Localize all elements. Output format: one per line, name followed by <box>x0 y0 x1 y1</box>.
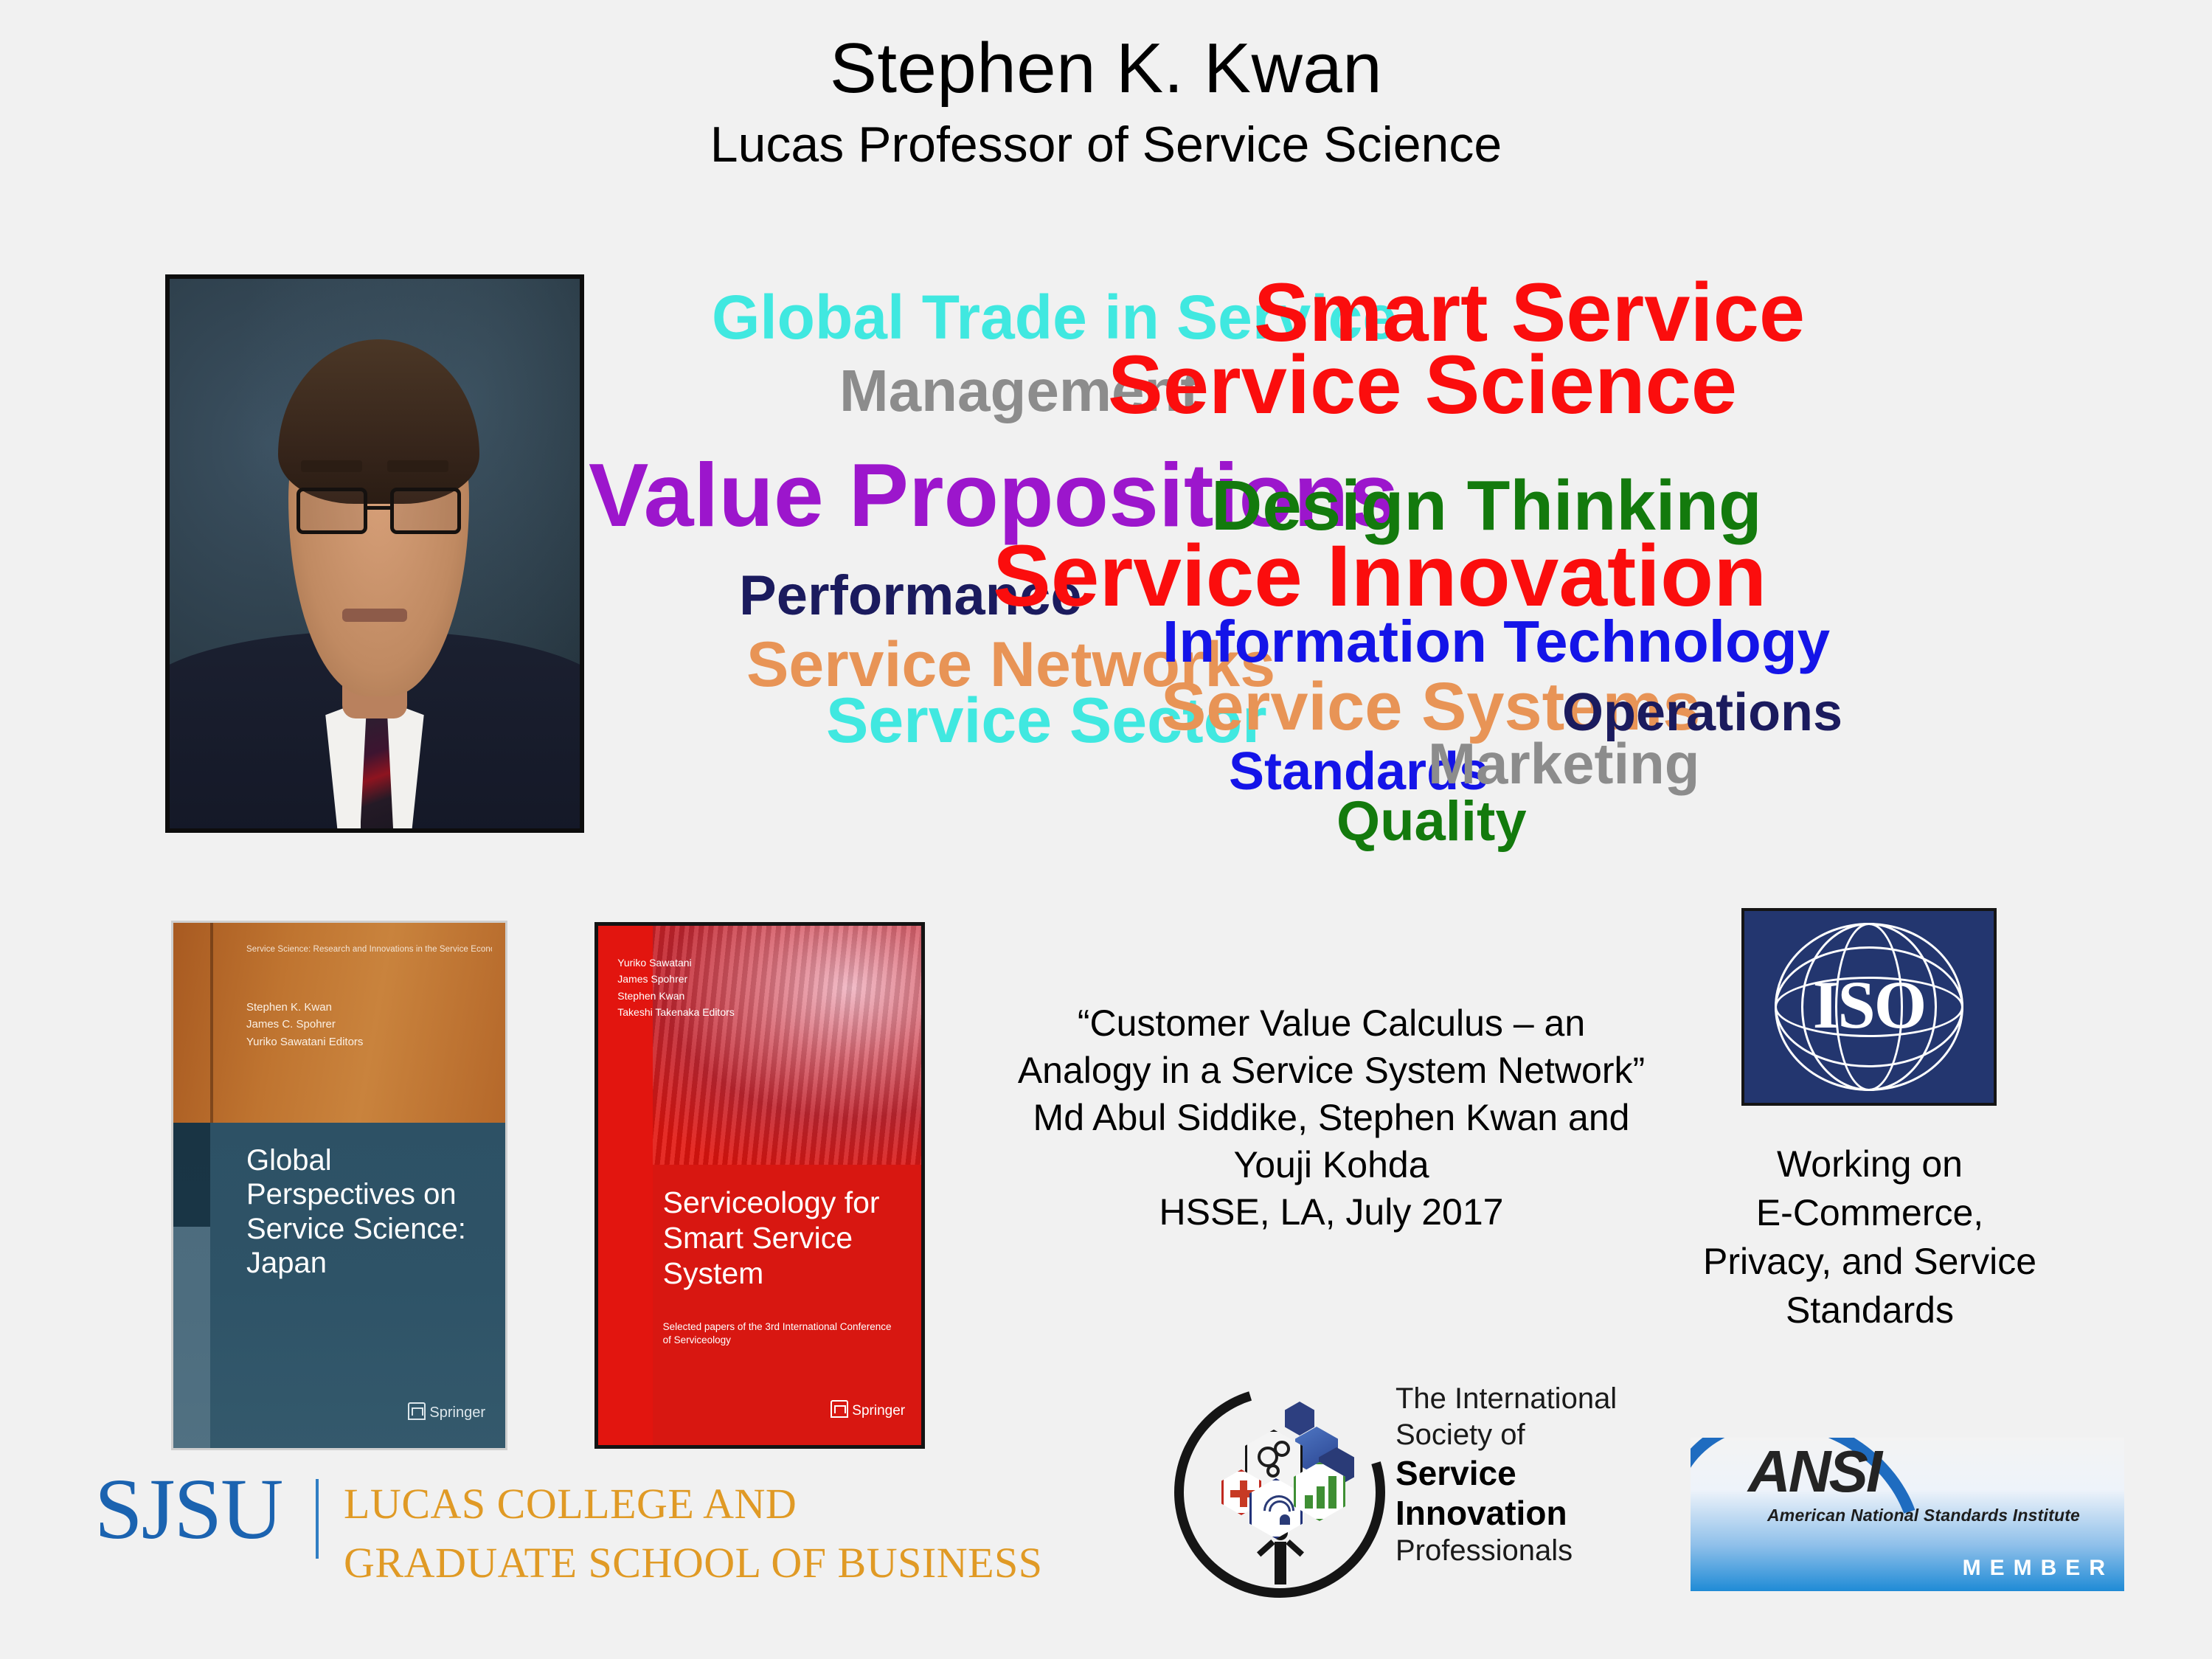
word-cloud: Global Trade in ServiceSmart ServiceMana… <box>583 266 2065 856</box>
talk-line-4: Youji Kohda <box>988 1141 1674 1188</box>
book1-title: Global Perspectives on Service Science: … <box>246 1143 492 1281</box>
book-cover-serviceology: Yuriko Sawatani James Spohrer Stephen Kw… <box>594 922 925 1449</box>
talk-citation: “Customer Value Calculus – an Analogy in… <box>988 1000 1674 1236</box>
sjsu-logo: SJSU LUCAS COLLEGE AND GRADUATE SCHOOL O… <box>94 1472 1186 1604</box>
ansi-wordmark: ANSI <box>1748 1442 1880 1501</box>
portrait-eyebrow-right <box>387 460 448 472</box>
ansi-member-badge: MEMBER <box>1963 1556 2114 1581</box>
iso-caption-line-3: Privacy, and Service <box>1645 1237 2095 1286</box>
issip-line-3: Service <box>1395 1453 1632 1493</box>
person-arm-right <box>1286 1539 1304 1556</box>
glasses-lens-left <box>297 488 367 534</box>
book1-authors: Stephen K. Kwan James C. Spohrer Yuriko … <box>246 999 479 1050</box>
wifi-icon <box>1262 1494 1294 1526</box>
iso-caption-line-2: E-Commerce, <box>1645 1188 2095 1237</box>
book1-author-1: Stephen K. Kwan <box>246 999 479 1016</box>
book1-series-text: Service Science: Research and Innovation… <box>246 945 492 954</box>
issip-line-4: Innovation <box>1395 1493 1632 1533</box>
ansi-member-logo: ANSI American National Standards Institu… <box>1691 1438 2124 1591</box>
iso-caption: Working on E-Commerce, Privacy, and Serv… <box>1645 1140 2095 1334</box>
bar-chart-icon <box>1305 1476 1339 1509</box>
book2-author-3: Stephen Kwan <box>617 988 818 1004</box>
book2-title: Serviceology for Smart Service System <box>663 1185 909 1292</box>
book2-publisher-label: Springer <box>852 1403 905 1419</box>
person-arm-left <box>1257 1539 1275 1556</box>
issip-line-1: The International <box>1395 1381 1632 1417</box>
page-title: Stephen K. Kwan <box>0 31 2212 106</box>
talk-line-3: Md Abul Siddike, Stephen Kwan and <box>988 1094 1674 1141</box>
bar-3 <box>1328 1476 1336 1509</box>
iso-caption-line-1: Working on <box>1645 1140 2095 1188</box>
page-subtitle: Lucas Professor of Service Science <box>0 117 2212 173</box>
book1-publisher-label: Springer <box>429 1405 485 1421</box>
person-body <box>1275 1542 1286 1584</box>
slide-canvas: Stephen K. Kwan Lucas Professor of Servi… <box>0 0 2212 1659</box>
portrait-photo <box>165 274 584 833</box>
issip-line-5: Professionals <box>1395 1533 1632 1569</box>
talk-line-1: “Customer Value Calculus – an <box>988 1000 1674 1047</box>
bar-2 <box>1317 1486 1325 1509</box>
glasses-lens-right <box>390 488 461 534</box>
book2-authors: Yuriko Sawatani James Spohrer Stephen Kw… <box>617 955 818 1021</box>
talk-line-2: Analogy in a Service System Network” <box>988 1047 1674 1094</box>
issip-name: The International Society of Service Inn… <box>1395 1381 1632 1569</box>
book2-author-2: James Spohrer <box>617 971 818 987</box>
word-cloud-term: Marketing <box>1428 735 1699 792</box>
word-cloud-term: Service Science <box>1108 344 1737 426</box>
issip-line-2: Society of <box>1395 1417 1632 1453</box>
word-cloud-term: Information Technology <box>1162 612 1830 671</box>
iso-wordmark: ISO <box>1744 971 1994 1039</box>
portrait-glasses <box>297 488 460 534</box>
word-cloud-term: Quality <box>1336 794 1527 850</box>
word-cloud-term: Service Innovation <box>993 533 1767 620</box>
book1-author-3: Yuriko Sawatani Editors <box>246 1033 479 1050</box>
book2-author-4: Takeshi Takenaka Editors <box>617 1004 818 1020</box>
title-block: Stephen K. Kwan Lucas Professor of Servi… <box>0 31 2212 173</box>
sjsu-college-name: LUCAS COLLEGE AND GRADUATE SCHOOL OF BUS… <box>344 1475 1043 1593</box>
springer-logo-icon <box>408 1402 426 1420</box>
gear-icon <box>1274 1441 1290 1457</box>
hexagon-navy-small-icon <box>1285 1402 1314 1435</box>
springer-logo-icon <box>831 1400 848 1418</box>
iso-caption-line-4: Standards <box>1645 1286 2095 1334</box>
portrait-mouth <box>342 609 408 622</box>
sjsu-divider <box>316 1479 319 1559</box>
glasses-bridge <box>367 506 390 510</box>
book-cover-global-perspectives: Service Science: Research and Innovation… <box>171 921 507 1450</box>
sjsu-wordmark: SJSU <box>94 1466 282 1553</box>
portrait-eyebrow-left <box>301 460 362 472</box>
wifi-person-dot <box>1280 1514 1290 1525</box>
issip-logo: The International Society of Service Inn… <box>1174 1381 1632 1617</box>
hexagon-cluster <box>1220 1402 1360 1534</box>
book1-author-2: James C. Spohrer <box>246 1016 479 1033</box>
bar-1 <box>1305 1495 1313 1509</box>
talk-line-5: HSSE, LA, July 2017 <box>988 1188 1674 1236</box>
sjsu-college-line-1: LUCAS COLLEGE AND <box>344 1475 1043 1534</box>
book2-author-1: Yuriko Sawatani <box>617 955 818 971</box>
ansi-subtitle: American National Standards Institute <box>1767 1506 2080 1525</box>
gear-icon <box>1266 1464 1280 1478</box>
iso-logo: ISO <box>1741 908 1997 1106</box>
book1-publisher: Springer <box>408 1402 485 1421</box>
book2-publisher: Springer <box>831 1400 905 1419</box>
book2-subtitle: Selected papers of the 3rd International… <box>663 1320 902 1347</box>
sjsu-college-line-2: GRADUATE SCHOOL OF BUSINESS <box>344 1534 1043 1593</box>
